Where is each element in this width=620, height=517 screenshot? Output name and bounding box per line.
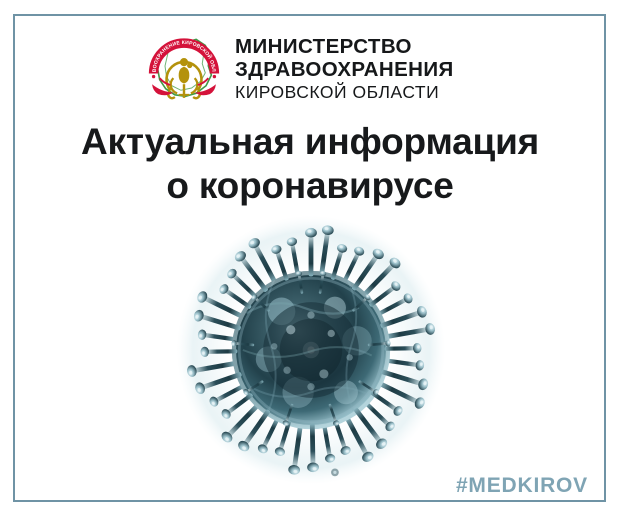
ministry-title-line-1: МИНИСТЕРСТВО [235, 37, 454, 58]
coronavirus-particle-illustration-icon [170, 212, 452, 488]
poster-canvas: ЗДРАВООХРАНЕНИЕ КИРОВСКОЙ ОБЛАСТИ [0, 0, 620, 517]
ministry-title-block: МИНИСТЕРСТВО ЗДРАВООХРАНЕНИЯ КИРОВСКОЙ О… [235, 37, 454, 102]
ministry-title-line-3: КИРОВСКОЙ ОБЛАСТИ [235, 84, 454, 102]
page-title: Актуальная информация о коронавирусе [0, 120, 620, 208]
ministry-title-line-2: ЗДРАВООХРАНЕНИЯ [235, 60, 454, 81]
hashtag-medkirov: #MEDKIROV [456, 474, 588, 498]
page-title-line-2: о коронавирусе [0, 164, 620, 208]
kirov-health-ministry-emblem-icon: ЗДРАВООХРАНЕНИЕ КИРОВСКОЙ ОБЛАСТИ [146, 31, 222, 107]
page-title-line-1: Актуальная информация [0, 120, 620, 164]
ministry-brand-lockup: ЗДРАВООХРАНЕНИЕ КИРОВСКОЙ ОБЛАСТИ [146, 28, 476, 110]
